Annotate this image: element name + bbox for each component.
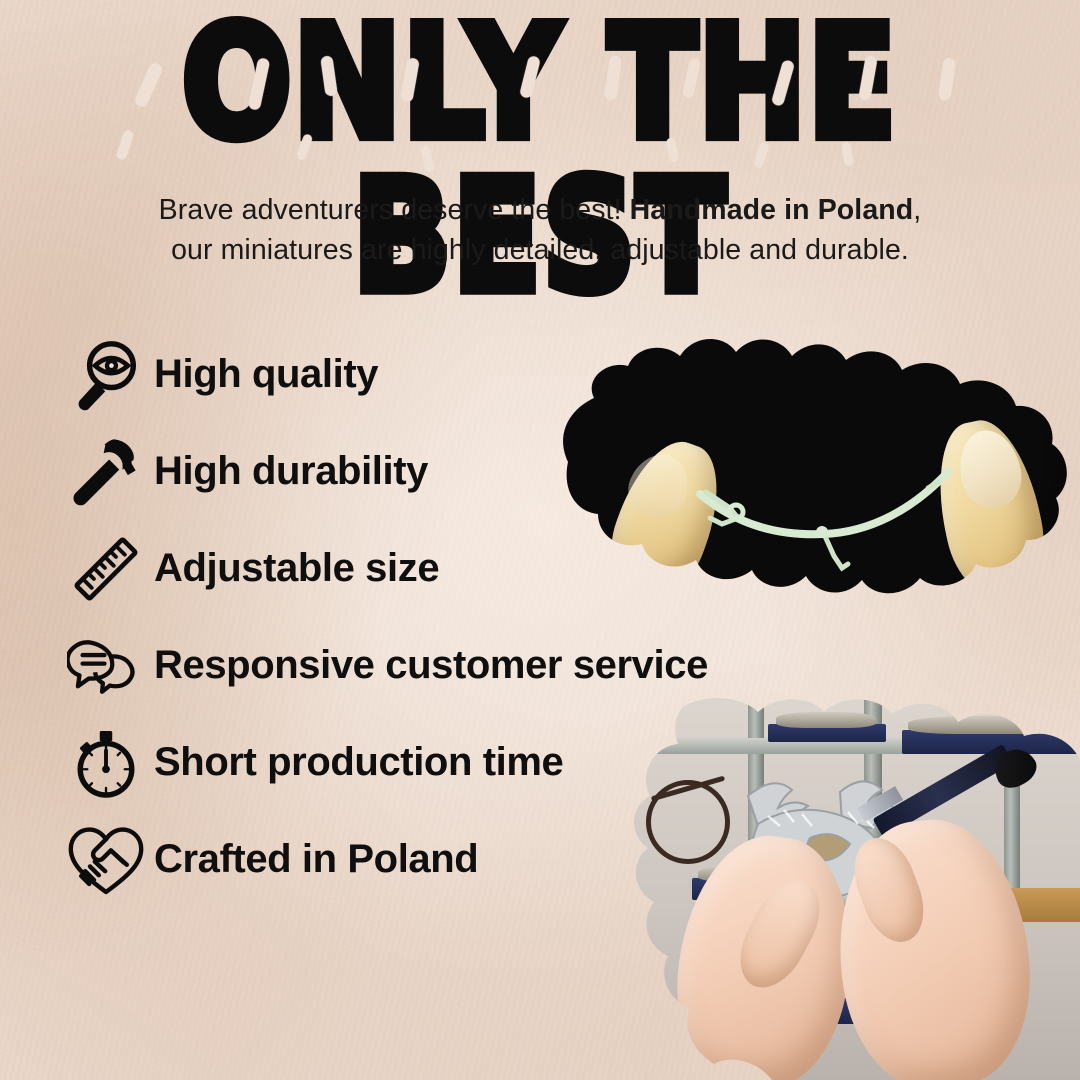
- photo-workshop-painting: [572, 688, 1080, 1080]
- speech-bubbles-icon: [64, 624, 148, 708]
- miniature-flexible-part: [524, 312, 1080, 630]
- subtitle-bold: Handmade in Poland: [630, 194, 914, 226]
- poster: ONLY THE BEST Brave adventurers deserve …: [0, 0, 1080, 1080]
- heart-handshake-icon: [64, 818, 148, 902]
- subtitle-prefix: Brave adventurers deserve the best!: [159, 194, 630, 226]
- photo-content: [524, 312, 1080, 630]
- subtitle: Brave adventurers deserve the best! Hand…: [0, 190, 1080, 271]
- feature-label: High durability: [154, 449, 428, 494]
- feature-label: Responsive customer service: [154, 643, 708, 688]
- feature-label: High quality: [154, 352, 378, 397]
- subtitle-suffix: ,: [913, 194, 921, 226]
- magnifier-eye-icon: [64, 333, 148, 417]
- hammer-icon: [64, 430, 148, 514]
- photo-flexible-miniature: [524, 312, 1080, 630]
- feature-label: Crafted in Poland: [154, 837, 478, 882]
- feature-label: Short production time: [154, 740, 563, 785]
- photo-content: [572, 688, 1080, 1080]
- ruler-icon: [64, 527, 148, 611]
- subtitle-line-1: Brave adventurers deserve the best! Hand…: [0, 190, 1080, 230]
- subtitle-line-2: our miniatures are highly detailed, adju…: [0, 230, 1080, 270]
- feature-label: Adjustable size: [154, 546, 439, 591]
- stopwatch-icon: [64, 721, 148, 805]
